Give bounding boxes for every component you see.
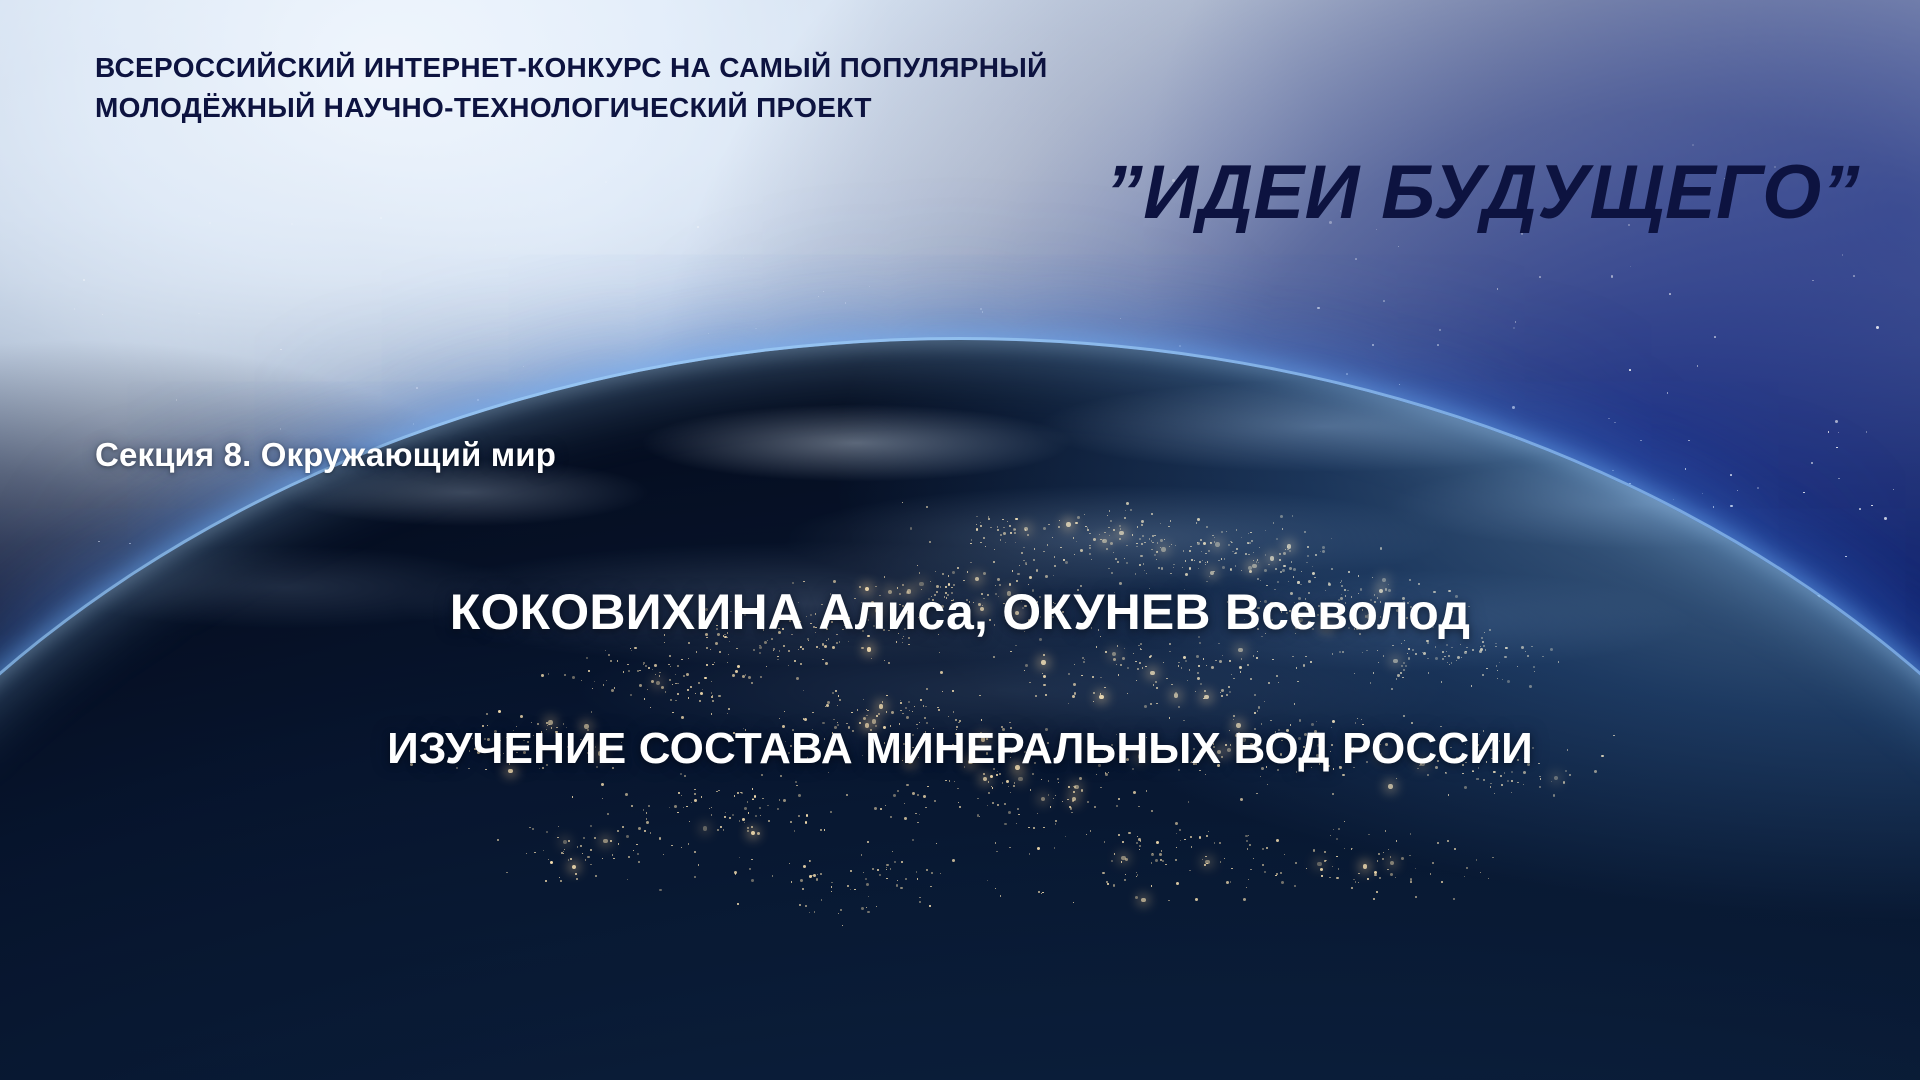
section-label: Секция 8. Окружающий мир xyxy=(95,437,556,473)
project-title: ИЗУЧЕНИЕ СОСТАВА МИНЕРАЛЬНЫХ ВОД РОССИИ xyxy=(0,725,1920,773)
competition-kicker-text: ВСЕРОССИЙСКИЙ ИНТЕРНЕТ-КОНКУРС НА САМЫЙ … xyxy=(95,48,1048,128)
page-title: ”ИДЕИ БУДУЩЕГО” xyxy=(1105,155,1860,231)
presentation-title-slide: ВСЕРОССИЙСКИЙ ИНТЕРНЕТ-КОНКУРС НА САМЫЙ … xyxy=(0,0,1920,1080)
authors-line: КОКОВИХИНА Алиса, ОКУНЕВ Всеволод xyxy=(0,585,1920,640)
